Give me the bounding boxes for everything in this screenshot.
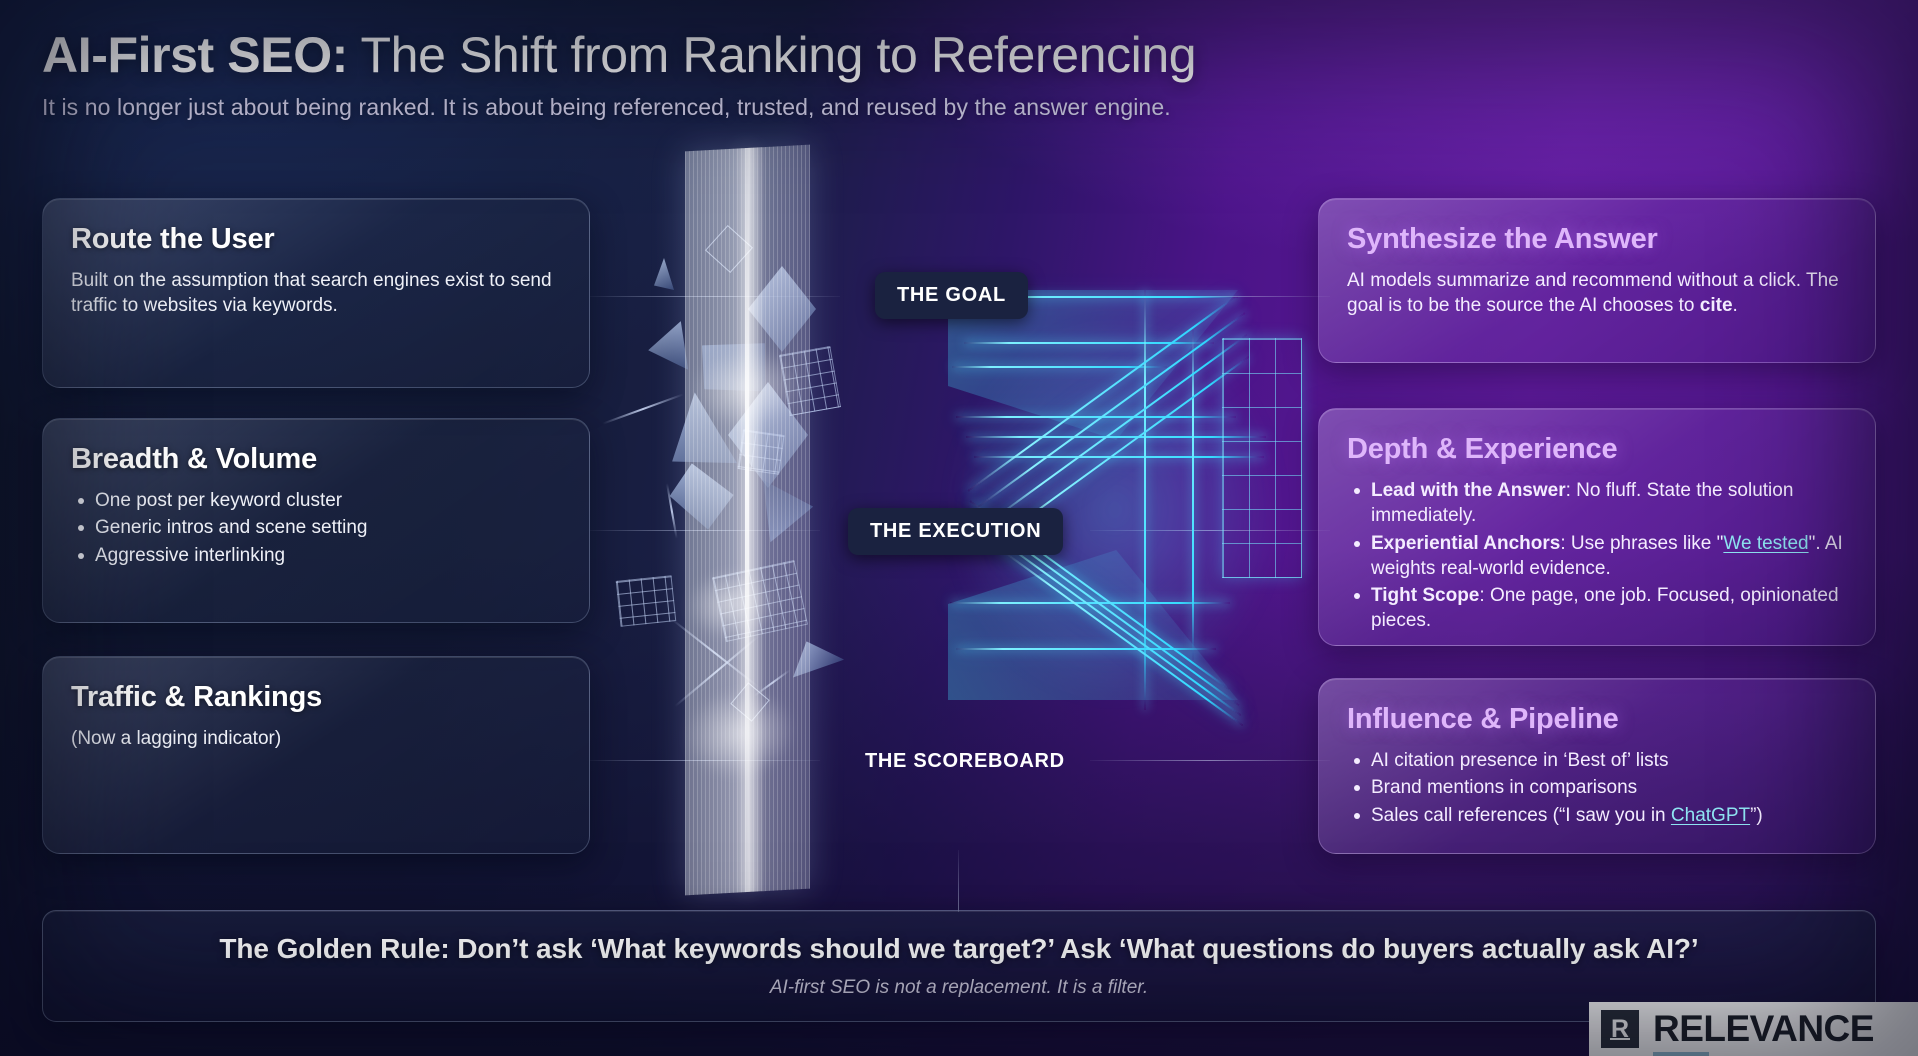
- center-pill-goal[interactable]: THE GOAL: [875, 272, 1028, 319]
- infographic-canvas: AI-First SEO: The Shift from Ranking to …: [0, 0, 1918, 1056]
- center-pill-scoreboard[interactable]: THE SCOREBOARD: [843, 738, 1087, 785]
- center-pill-execution[interactable]: THE EXECUTION: [848, 508, 1063, 555]
